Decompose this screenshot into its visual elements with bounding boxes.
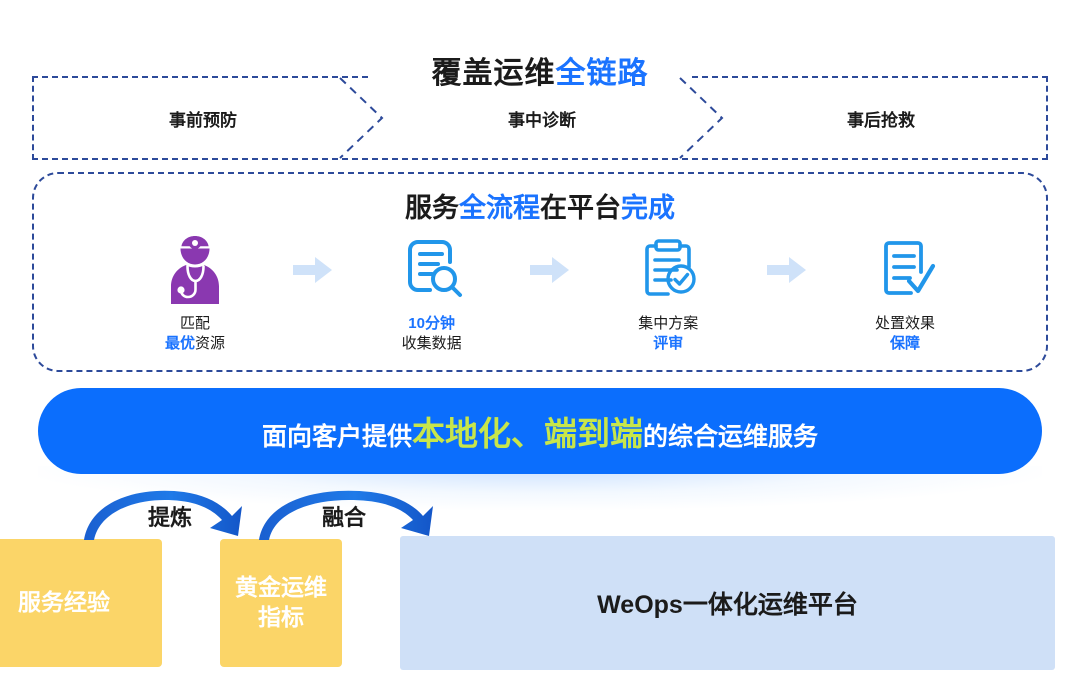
- box-service-experience-label: 服务经验: [18, 588, 110, 618]
- phase-label-1: 事前预防: [169, 106, 237, 131]
- box-weops-platform-label: WeOps一体化运维平台: [597, 585, 858, 621]
- process-step-3: 集中方案 评审: [593, 232, 743, 354]
- doctor-icon: [162, 232, 228, 308]
- section-title-service-flow: 服务全流程在平台完成: [0, 186, 1080, 225]
- title2-h1: 全流程: [459, 193, 540, 223]
- box-golden-metrics-line1: 黄金运维: [235, 573, 327, 603]
- box-golden-metrics-line2: 指标: [235, 603, 327, 633]
- process-step-2: 10分钟 收集数据: [357, 232, 507, 354]
- process-step-3-caption: 集中方案 评审: [638, 314, 698, 354]
- step4-line2-highlight: 保障: [875, 334, 935, 354]
- step1-line1: 匹配: [165, 314, 225, 334]
- step3-line2-highlight: 评审: [638, 334, 698, 354]
- phase-label-3: 事后抢救: [847, 106, 915, 131]
- document-search-icon: [400, 232, 464, 308]
- phase-label-2: 事中诊断: [508, 106, 576, 131]
- title2-h2: 完成: [621, 193, 675, 223]
- flow-arrow-2: [526, 232, 574, 308]
- title1-plain: 覆盖运维: [432, 57, 556, 90]
- flow-arrow-3: [763, 232, 811, 308]
- box-service-experience: 服务经验: [0, 539, 162, 667]
- title1-highlight: 全链路: [556, 57, 649, 90]
- step1-line2-rest: 资源: [195, 335, 225, 352]
- diagram-canvas: 覆盖运维全链路 事前预防 事中诊断 事后抢救 服务全流程在平台完成: [0, 0, 1080, 682]
- step2-line2-rest: 收集数据: [402, 334, 462, 354]
- page-title-coverage: 覆盖运维全链路: [0, 48, 1080, 92]
- step1-line2-highlight: 最优: [165, 335, 195, 352]
- box-golden-metrics: 黄金运维 指标: [220, 539, 342, 667]
- service-banner-text: 面向客户提供本地化、端到端的综合运维服务: [262, 407, 818, 455]
- step4-line1: 处置效果: [875, 314, 935, 334]
- banner-highlight: 本地化、端到端: [412, 415, 643, 452]
- curved-arrow-label-merge: 融合: [322, 500, 366, 532]
- step2-line1: 10分钟: [402, 314, 462, 334]
- process-steps: 匹配 最优资源 10分钟: [120, 232, 980, 364]
- banner-p1: 面向客户提供: [262, 423, 412, 451]
- service-banner: 面向客户提供本地化、端到端的综合运维服务: [38, 388, 1042, 474]
- box-weops-platform: WeOps一体化运维平台: [400, 536, 1055, 670]
- process-step-4-caption: 处置效果 保障: [875, 314, 935, 354]
- banner-p2: 的综合运维服务: [643, 423, 818, 451]
- process-step-1: 匹配 最优资源: [120, 232, 270, 354]
- curved-arrow-label-refine: 提炼: [148, 500, 192, 532]
- title2-p1: 服务: [405, 193, 459, 223]
- step3-line1: 集中方案: [638, 314, 698, 334]
- flow-arrow-1: [289, 232, 337, 308]
- process-step-1-caption: 匹配 最优资源: [165, 314, 225, 354]
- clipboard-check-icon: [636, 232, 700, 308]
- document-check-icon: [873, 232, 937, 308]
- process-step-4: 处置效果 保障: [830, 232, 980, 354]
- process-step-2-caption: 10分钟 收集数据: [402, 314, 462, 354]
- title2-p2: 在平台: [540, 193, 621, 223]
